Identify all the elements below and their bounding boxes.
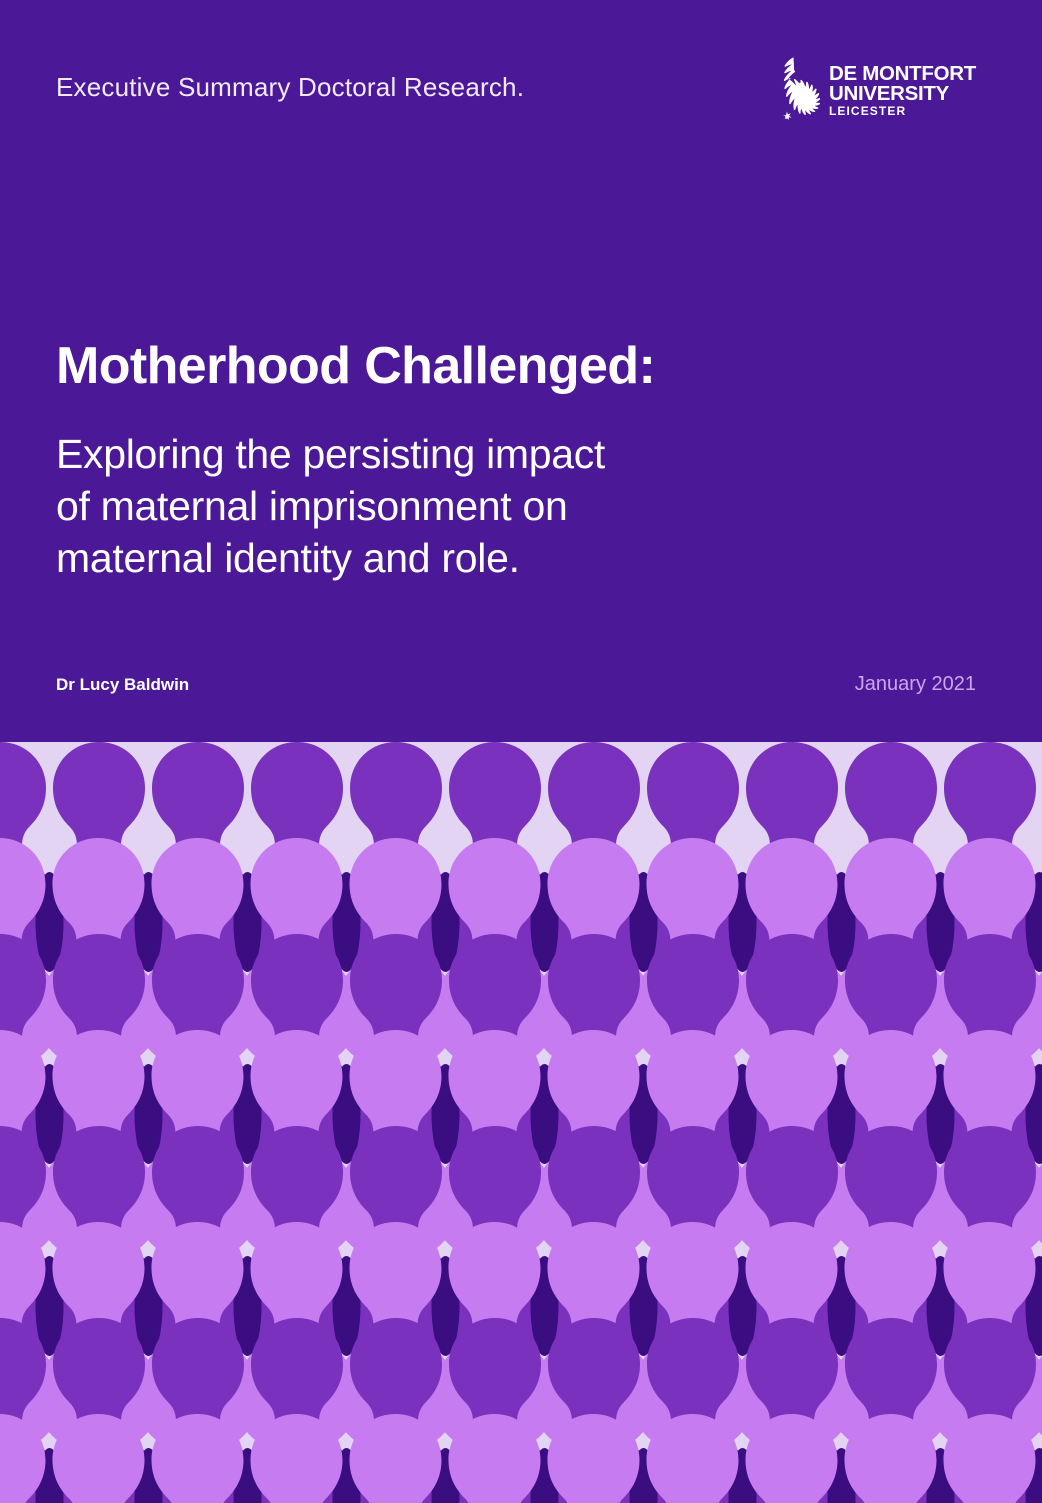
dmu-logo: DE MONTFORT UNIVERSITY LEICESTER [774,55,976,127]
logo-wordmark: DE MONTFORT UNIVERSITY LEICESTER [829,64,976,118]
logo-line-3: LEICESTER [829,106,976,118]
logo-line-2: UNIVERSITY [829,84,976,104]
lion-heraldic-icon [774,55,820,127]
document-cover-page: Executive Summary Doctoral Research. DE … [0,0,1042,1503]
page-subtitle: Exploring the persisting impact of mater… [56,428,605,584]
decorative-person-pattern [0,742,1042,1503]
author-name: Dr Lucy Baldwin [56,675,189,695]
publication-date: January 2021 [855,673,976,696]
logo-line-1: DE MONTFORT [829,64,976,84]
subtitle-line-1: Exploring the persisting impact [56,428,605,480]
page-title: Motherhood Challenged: [56,336,655,396]
kicker-text: Executive Summary Doctoral Research. [56,72,524,103]
subtitle-line-2: of maternal imprisonment on [56,480,605,532]
subtitle-line-3: maternal identity and role. [56,532,605,584]
pattern-svg [0,742,1042,1503]
cover-header-band: Executive Summary Doctoral Research. DE … [0,0,1042,742]
